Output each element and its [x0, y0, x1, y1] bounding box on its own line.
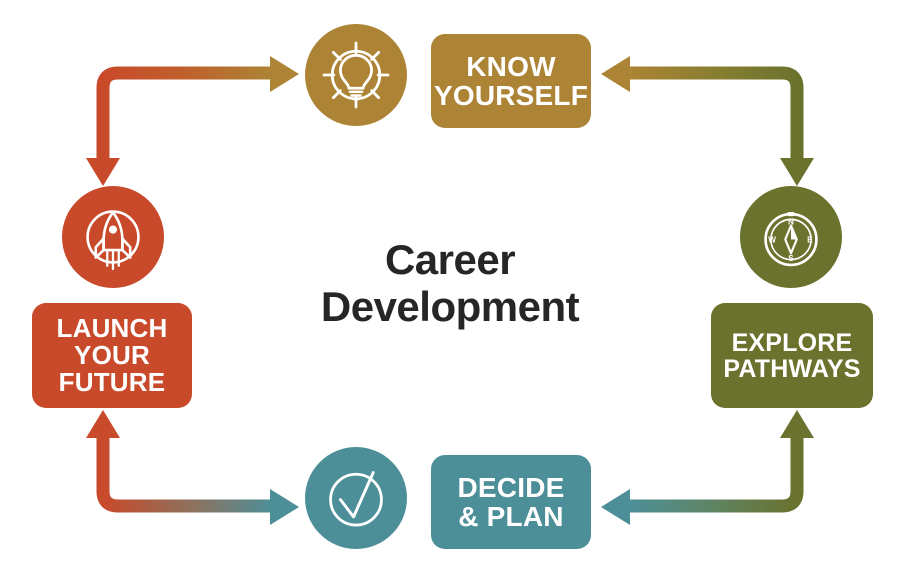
launch-label-line-3: FUTURE — [57, 369, 168, 396]
career-development-diagram: KNOW YOURSELF N E S W EXPLORE PATHWAYS — [0, 0, 900, 582]
stage-label-launch-your-future[interactable]: LAUNCH YOUR FUTURE — [32, 303, 192, 408]
compass-label-w: W — [768, 236, 776, 245]
compass-label-n: N — [788, 218, 794, 227]
diagram-title-line-2: Development — [250, 283, 650, 330]
launch-label-line-2: YOUR — [57, 342, 168, 369]
explore-label-line-2: PATHWAYS — [723, 356, 860, 382]
connector-launch-to-know — [86, 56, 299, 186]
stage-label-explore-pathways[interactable]: EXPLORE PATHWAYS — [711, 303, 873, 408]
know-label-line-1: KNOW — [434, 52, 588, 81]
rocket-icon — [72, 196, 154, 278]
compass-icon: N E S W — [750, 196, 832, 278]
explore-label-line-1: EXPLORE — [723, 330, 860, 356]
lightbulb-badge — [305, 24, 407, 126]
check-circle-badge — [305, 447, 407, 549]
compass-label-e: E — [807, 236, 813, 245]
diagram-title: Career Development — [250, 236, 650, 330]
connector-explore-to-decide — [601, 410, 814, 525]
launch-label-line-1: LAUNCH — [57, 315, 168, 342]
compass-label-s: S — [788, 254, 794, 263]
decide-label-line-2: & PLAN — [458, 502, 565, 531]
compass-badge: N E S W — [740, 186, 842, 288]
know-label-line-2: YOURSELF — [434, 81, 588, 110]
diagram-title-line-1: Career — [250, 236, 650, 283]
connector-explore-to-know — [601, 56, 814, 186]
connector-decide-to-launch — [86, 410, 299, 525]
lightbulb-icon — [315, 34, 397, 116]
check-circle-icon — [315, 457, 397, 539]
stage-label-know-yourself[interactable]: KNOW YOURSELF — [431, 34, 591, 128]
decide-label-line-1: DECIDE — [458, 473, 565, 502]
rocket-badge — [62, 186, 164, 288]
stage-label-decide-plan[interactable]: DECIDE & PLAN — [431, 455, 591, 549]
